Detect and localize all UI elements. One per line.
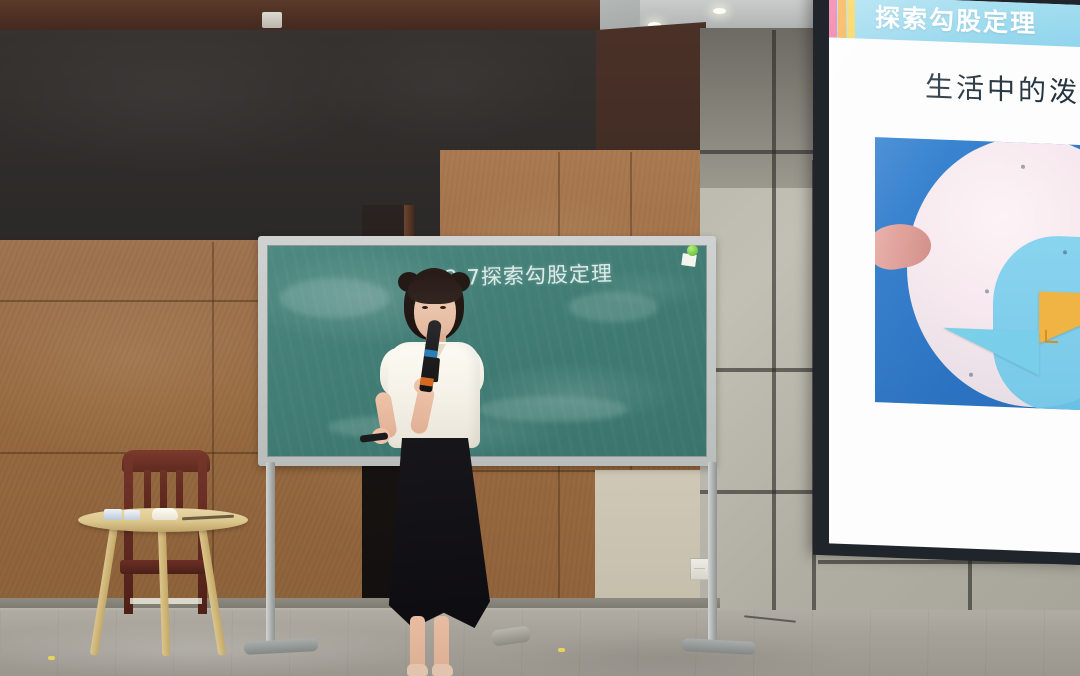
black-skirt — [380, 438, 490, 628]
blackboard-leg — [708, 462, 717, 650]
panel-joint — [772, 30, 776, 640]
shoe — [407, 664, 428, 676]
mic-band-orange — [420, 377, 434, 387]
hair-fringe — [408, 276, 462, 304]
slide-title: 探索勾股定理 — [875, 0, 1037, 40]
accent-stripe-pink — [829, 0, 837, 38]
classroom-photo-scene: 探索勾股定理 生活中的泼 — [0, 0, 1080, 676]
chalk-smear — [568, 292, 658, 322]
chalk-piece — [558, 648, 565, 652]
right-angle-mark-icon — [1045, 330, 1058, 343]
chalk-box[interactable] — [104, 509, 122, 520]
blackboard-leg — [266, 462, 275, 650]
projection-screen: 探索勾股定理 生活中的泼 — [813, 0, 1080, 565]
accent-stripe-yellow — [847, 0, 855, 38]
tissue[interactable] — [152, 508, 178, 520]
panel-joint — [700, 150, 818, 154]
round-side-table — [78, 508, 248, 658]
projected-slide: 探索勾股定理 生活中的泼 — [829, 0, 1080, 554]
slide-title-bar: 探索勾股定理 — [829, 0, 1080, 48]
photo-speck — [1063, 250, 1067, 254]
chair-back-rail — [122, 450, 210, 472]
table-leg — [90, 524, 119, 656]
slide-heading: 生活中的泼 — [925, 65, 1080, 111]
slide-photo — [875, 137, 1080, 412]
chalk-piece — [48, 656, 55, 660]
blue-triangle — [943, 328, 1039, 376]
eye — [422, 306, 428, 309]
smoke-detector-icon — [262, 12, 282, 28]
teacher-figure — [352, 268, 502, 676]
shoe — [432, 664, 453, 676]
magnet-pin-icon[interactable] — [687, 245, 698, 256]
wall-outlet-icon[interactable] — [690, 558, 709, 580]
eye — [440, 306, 446, 309]
upper-wood-trim — [0, 0, 600, 30]
panel-joint — [700, 368, 818, 372]
photo-speck — [1021, 165, 1025, 169]
ceiling-spotlight — [713, 8, 726, 14]
table-leg — [158, 524, 171, 656]
mic-band-blue — [424, 349, 438, 358]
photo-speck — [969, 373, 973, 377]
accent-stripe-orange — [838, 0, 846, 38]
panel-joint — [700, 490, 818, 494]
photo-speck — [985, 289, 989, 293]
table-leg — [198, 524, 227, 656]
chalk-box[interactable] — [124, 510, 140, 520]
